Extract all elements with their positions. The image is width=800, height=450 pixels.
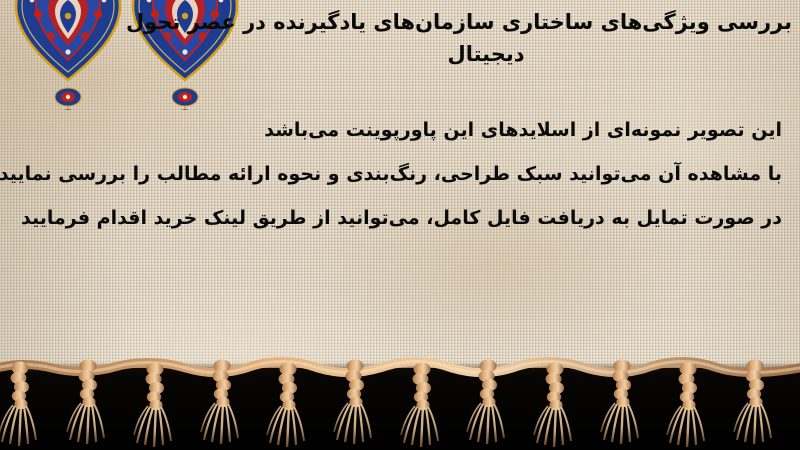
presentation-slide: بررسی ویژگی‌های ساختاری سازمان‌های یادگی… [0, 0, 800, 450]
tassel [534, 363, 571, 448]
slide-body-text: این تصویر نمونه‌ای از اسلایدهای این پاور… [18, 108, 782, 240]
tassel [0, 362, 36, 447]
slide-title-line-2: دیجیتال [180, 38, 792, 70]
tassel [401, 363, 438, 448]
body-line-3: در صورت تمایل به دریافت فایل کامل، می‌تو… [18, 196, 782, 240]
slide-title: بررسی ویژگی‌های ساختاری سازمان‌های یادگی… [180, 6, 792, 70]
slide-title-line-1: بررسی ویژگی‌های ساختاری سازمان‌های یادگی… [180, 6, 792, 38]
body-line-2: با مشاهده آن می‌توانید سبک طراحی، رنگ‌بن… [18, 152, 782, 196]
tassel [267, 363, 304, 448]
carpet-tassel-group [0, 352, 800, 450]
tassel [667, 363, 704, 448]
body-line-1: این تصویر نمونه‌ای از اسلایدهای این پاور… [18, 108, 782, 152]
tassel [134, 363, 171, 448]
ornament-medallion-left [16, 0, 120, 110]
